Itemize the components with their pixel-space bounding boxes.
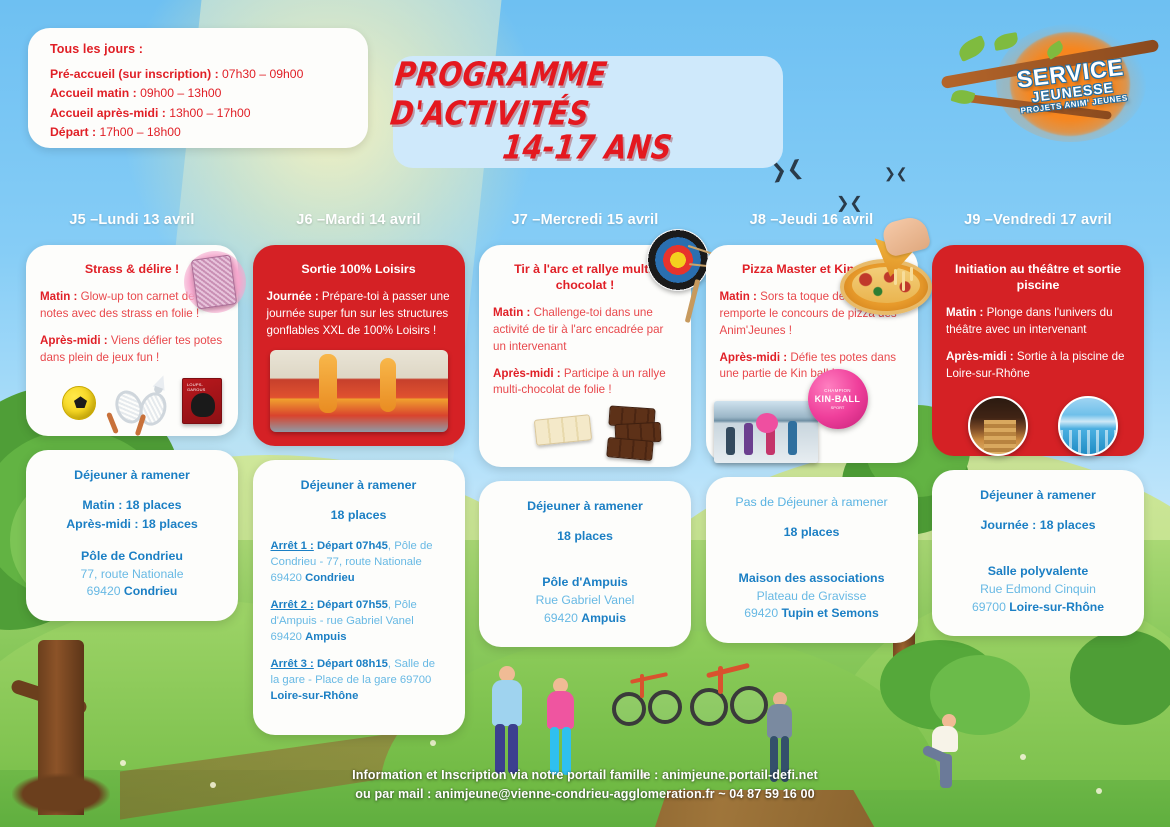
hours-value: 07h30 – 09h00 bbox=[222, 67, 303, 81]
dark-chocolate-icon bbox=[606, 437, 654, 461]
footer-line-mail: ou par mail : animjeune@vienne-condrieu-… bbox=[0, 785, 1170, 805]
venue-street-j8: Plateau de Gravisse bbox=[718, 588, 906, 606]
game-box-icon: LOUPS-GAROUS bbox=[182, 378, 222, 424]
activity-card-j5: Strass & délire ! Matin : Glow-up ton ca… bbox=[26, 245, 238, 436]
bus-stops-list: Arrêt 1 : Départ 07h45, Pôle de Condrieu… bbox=[265, 538, 453, 704]
kinball-badge-icon: CHAMPION KIN-BALL SPORT bbox=[808, 369, 868, 429]
activity-label: Après-midi : bbox=[946, 350, 1014, 363]
venue-zip: 69420 bbox=[87, 584, 124, 598]
activity-block-afternoon: Après-midi : Participe à un rallye multi… bbox=[493, 366, 677, 400]
stop-departure: Départ 08h15 bbox=[314, 658, 388, 670]
info-card-j6: Déjeuner à ramener 18 places Arrêt 1 : D… bbox=[253, 460, 465, 736]
stop-departure: Départ 07h45 bbox=[314, 540, 388, 552]
venue-city-name: Tupin et Semons bbox=[782, 606, 879, 620]
kinball-game-photo bbox=[714, 401, 818, 463]
day-column-j7: J7 –Mercredi 15 avril Tir à l'arc et ral… bbox=[479, 212, 691, 752]
day-header-j9: J9 –Vendredi 17 avril bbox=[932, 212, 1144, 232]
day-column-j8: J8 –Jeudi 16 avril Pizza Master et Kin-B… bbox=[706, 212, 918, 752]
hours-row: Pré-accueil (sur inscription) : 07h30 – … bbox=[50, 65, 348, 84]
stop-zip: 69420 bbox=[271, 572, 306, 584]
lunch-info-j8: Pas de Déjeuner à ramener bbox=[718, 495, 906, 509]
activity-label: Journée : bbox=[267, 290, 319, 303]
venue-city-j9: 69700 Loire-sur-Rhône bbox=[944, 599, 1132, 617]
hours-row: Accueil après-midi : 13h00 – 17h00 bbox=[50, 104, 348, 123]
hours-value: 17h00 – 18h00 bbox=[99, 125, 180, 139]
inflatable-structures-photo bbox=[270, 350, 448, 432]
venue-name-j9: Salle polyvalente bbox=[944, 563, 1132, 581]
venue-name-j5: Pôle de Condrieu bbox=[38, 548, 226, 566]
bird-icon: ❯❮ bbox=[884, 166, 907, 180]
kinball-badge-top: CHAMPION bbox=[824, 388, 851, 393]
lunch-info-j5: Déjeuner à ramener bbox=[38, 468, 226, 482]
kinball-badge-bot: SPORT bbox=[831, 405, 845, 410]
lunch-info-j7: Déjeuner à ramener bbox=[491, 499, 679, 513]
activity-block-morning: Matin : Plonge dans l'univers du théâtre… bbox=[946, 305, 1130, 339]
activity-block-day: Journée : Prépare-toi à passer une journ… bbox=[267, 289, 451, 339]
day-columns: J5 –Lundi 13 avril Strass & délire ! Mat… bbox=[0, 212, 1170, 752]
activity-card-j7: Tir à l'arc et rallye multi-chocolat ! M… bbox=[479, 245, 691, 467]
places-line-j9: Journée : 18 places bbox=[944, 516, 1132, 535]
bird-icon: ❯❮ bbox=[836, 196, 863, 212]
info-card-j8: Pas de Déjeuner à ramener 18 places Mais… bbox=[706, 477, 918, 643]
venue-city-j5: 69420 Condrieu bbox=[38, 583, 226, 601]
program-title-box: PROGRAMME D'ACTIVITÉS 14-17 ANS bbox=[393, 56, 783, 168]
venue-name-j7: Pôle d'Ampuis bbox=[491, 574, 679, 592]
info-card-j9: Déjeuner à ramener Journée : 18 places S… bbox=[932, 470, 1144, 636]
places-line-j6: 18 places bbox=[265, 506, 453, 525]
bus-stop-3: Arrêt 3 : Départ 08h15, Salle de la gare… bbox=[271, 656, 447, 704]
hours-value: 13h00 – 17h00 bbox=[169, 106, 250, 120]
stop-zip: 69700 bbox=[400, 674, 431, 686]
kinball-badge-mid: KIN-BALL bbox=[815, 394, 861, 404]
places-line-afternoon: Après-midi : 18 places bbox=[38, 515, 226, 534]
stop-label: Arrêt 1 : bbox=[271, 540, 314, 552]
hours-label: Pré-accueil (sur inscription) : bbox=[50, 67, 219, 81]
venue-zip: 69420 bbox=[544, 611, 581, 625]
hours-row: Départ : 17h00 – 18h00 bbox=[50, 123, 348, 142]
venue-city-name: Loire-sur-Rhône bbox=[1009, 600, 1104, 614]
activity-card-j6: Sortie 100% Loisirs Journée : Prépare-to… bbox=[253, 245, 465, 446]
venue-city-name: Condrieu bbox=[124, 584, 178, 598]
day-column-j9: J9 –Vendredi 17 avril Initiation au théâ… bbox=[932, 212, 1144, 752]
info-card-j5: Déjeuner à ramener Matin : 18 places Apr… bbox=[26, 450, 238, 621]
lunch-info-j6: Déjeuner à ramener bbox=[265, 478, 453, 492]
activity-label: Matin : bbox=[40, 290, 77, 303]
activity-block-afternoon: Après-midi : Sortie à la piscine de Loir… bbox=[946, 349, 1130, 383]
activity-block-afternoon: Après-midi : Défie tes potes dans une pa… bbox=[720, 350, 904, 384]
stop-city: Loire-sur-Rhône bbox=[271, 690, 359, 702]
activity-card-j9: Initiation au théâtre et sortie piscine … bbox=[932, 245, 1144, 456]
places-line-j7: 18 places bbox=[491, 527, 679, 546]
activity-label: Après-midi : bbox=[40, 334, 108, 347]
activity-label: Matin : bbox=[720, 290, 757, 303]
white-chocolate-icon bbox=[534, 414, 592, 446]
notebook-rhinestone-icon bbox=[184, 251, 246, 313]
activity-label: Matin : bbox=[493, 306, 530, 319]
service-jeunesse-logo: SERVICE JEUNESSE PROJETS ANIM' JEUNES bbox=[988, 18, 1156, 140]
venue-street-j9: Rue Edmond Cinquin bbox=[944, 581, 1132, 599]
hours-row: Accueil matin : 09h00 – 13h00 bbox=[50, 84, 348, 103]
pizza-photo-icon bbox=[832, 223, 940, 319]
activity-title-j6: Sortie 100% Loisirs bbox=[267, 261, 451, 277]
venue-city-j7: 69420 Ampuis bbox=[491, 610, 679, 628]
places-line-morning: Matin : 18 places bbox=[38, 496, 226, 515]
day-header-j7: J7 –Mercredi 15 avril bbox=[479, 212, 691, 232]
activity-card-j8: Pizza Master et Kin-Ball Matin : Sors ta… bbox=[706, 245, 918, 463]
footer-contact: Information et Inscription via notre por… bbox=[0, 766, 1170, 805]
day-header-j5: J5 –Lundi 13 avril bbox=[26, 212, 238, 232]
hours-label: Accueil matin : bbox=[50, 86, 137, 100]
stop-city: Ampuis bbox=[305, 631, 346, 643]
soccer-ball-icon bbox=[62, 386, 96, 420]
hours-label: Accueil après-midi : bbox=[50, 106, 166, 120]
racket-handle-icon bbox=[106, 412, 119, 434]
stop-zip: 69420 bbox=[271, 631, 306, 643]
venue-zip: 69420 bbox=[744, 606, 781, 620]
activity-block-morning: Matin : Challenge-toi dans une activité … bbox=[493, 305, 677, 355]
hours-title: Tous les jours : bbox=[50, 42, 348, 56]
activity-label: Après-midi : bbox=[720, 351, 788, 364]
stop-departure: Départ 07h55 bbox=[314, 599, 388, 611]
daily-hours-box: Tous les jours : Pré-accueil (sur inscri… bbox=[28, 28, 368, 148]
activity-label: Matin : bbox=[946, 306, 983, 319]
stop-label: Arrêt 2 : bbox=[271, 599, 314, 611]
activity-label: Après-midi : bbox=[493, 367, 561, 380]
venue-city-j8: 69420 Tupin et Semons bbox=[718, 605, 906, 623]
shuttlecock-icon bbox=[153, 374, 170, 391]
activity-title-j9: Initiation au théâtre et sortie piscine bbox=[946, 261, 1130, 293]
footer-line-portal: Information et Inscription via notre por… bbox=[0, 766, 1170, 786]
venue-name-j8: Maison des associations bbox=[718, 570, 906, 588]
venue-street-j5: 77, route Nationale bbox=[38, 566, 226, 584]
day-header-j6: J6 –Mardi 14 avril bbox=[253, 212, 465, 232]
venue-street-j7: Rue Gabriel Vanel bbox=[491, 592, 679, 610]
theatre-photo-icon bbox=[968, 396, 1028, 456]
page-title-line1: PROGRAMME D'ACTIVITÉS bbox=[388, 55, 788, 133]
day-column-j6: J6 –Mardi 14 avril Sortie 100% Loisirs J… bbox=[253, 212, 465, 752]
page-title-line2: 14-17 ANS bbox=[501, 128, 675, 167]
hours-value: 09h00 – 13h00 bbox=[140, 86, 221, 100]
info-card-j7: Déjeuner à ramener 18 places Pôle d'Ampu… bbox=[479, 481, 691, 647]
activity-block-afternoon: Après-midi : Viens défier tes potes dans… bbox=[40, 333, 224, 367]
day-column-j5: J5 –Lundi 13 avril Strass & délire ! Mat… bbox=[26, 212, 238, 752]
bus-stop-1: Arrêt 1 : Départ 07h45, Pôle de Condrieu… bbox=[271, 538, 447, 586]
stop-label: Arrêt 3 : bbox=[271, 658, 314, 670]
places-line-j8: 18 places bbox=[718, 523, 906, 542]
venue-zip: 69700 bbox=[972, 600, 1009, 614]
venue-city-name: Ampuis bbox=[581, 611, 626, 625]
swimming-pool-photo-icon bbox=[1058, 396, 1118, 456]
hours-label: Départ : bbox=[50, 125, 96, 139]
bus-stop-2: Arrêt 2 : Départ 07h55, Pôle d'Ampuis - … bbox=[271, 597, 447, 645]
stop-city: Condrieu bbox=[305, 572, 355, 584]
lunch-info-j9: Déjeuner à ramener bbox=[944, 488, 1132, 502]
